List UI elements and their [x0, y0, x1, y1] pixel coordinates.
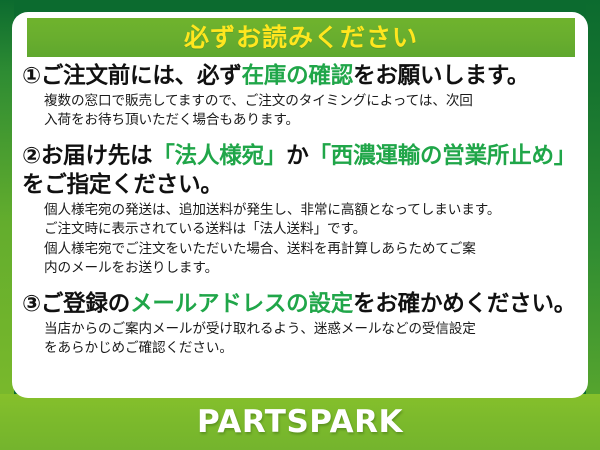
notice-list: ①ご注文前には、必ず在庫の確認をお願いします。 複数の窓口で販売してますので、ご…: [12, 64, 588, 361]
notice-item-1-heading: ①ご注文前には、必ず在庫の確認をお願いします。: [22, 62, 580, 91]
content-card: 必ずお読みください ①ご注文前には、必ず在庫の確認をお願いします。 複数の窓口で…: [12, 12, 588, 398]
notice-item-3-head-part-2: をお確かめください。: [353, 291, 576, 317]
banner-title: 必ずお読みください: [184, 25, 418, 50]
notice-item-3-subline-1: をあらかじめご確認ください。: [44, 339, 580, 358]
notice-item-2-head-highlight-depot: 「西濃運輸の営業所止め」: [309, 143, 577, 169]
notice-item-1-subline-1: 入荷をお待ち頂いただく場合もあります。: [44, 111, 580, 130]
notice-item-2-marker: ②: [22, 143, 41, 169]
notice-item-3-heading: ③ご登録のメールアドレスの設定をお確かめください。: [22, 290, 580, 319]
title-banner: 必ずお読みください: [27, 18, 575, 57]
notice-item-2-subline-2: 個人様宅宛でご注文をいただいた場合、送料を再計算しあらためてご案: [44, 240, 580, 259]
notice-item-2-head-highlight-corporate: 「法人様宛」: [152, 143, 286, 169]
frame-right-border: [586, 0, 600, 404]
notice-item-1-head-part-0: ご注文前には、必ず: [41, 63, 242, 89]
notice-item-3-marker: ③: [22, 291, 41, 317]
footer-brand: PARTSPARK: [0, 394, 600, 450]
notice-item-1-subtext: 複数の窓口で販売してますので、ご注文のタイミングによっては、次回 入荷をお待ち頂…: [44, 92, 580, 131]
notice-item-2-subline-3: 内のメールをお送りします。: [44, 259, 580, 278]
notice-item-3-head-part-0: ご登録の: [41, 291, 130, 317]
notice-item-1-subline-0: 複数の窓口で販売してますので、ご注文のタイミングによっては、次回: [44, 92, 580, 111]
brand-wordmark: PARTSPARK: [197, 407, 403, 438]
notice-item-2-heading: ②お届け先は「法人様宛」か「西濃運輸の営業所止め」をご指定ください。: [22, 142, 580, 200]
notice-item-1: ①ご注文前には、必ず在庫の確認をお願いします。 複数の窓口で販売してますので、ご…: [22, 62, 580, 130]
notice-item-3: ③ご登録のメールアドレスの設定をお確かめください。 当店からのご案内メールが受け…: [22, 290, 580, 358]
notice-item-1-marker: ①: [22, 63, 41, 89]
notice-item-3-subtext: 当店からのご案内メールが受け取れるよう、迷惑メールなどの受信設定 をあらかじめご…: [44, 320, 580, 359]
notice-item-2-subtext: 個人様宅宛の発送は、追加送料が発生し、非常に高額となってしまいます。 ご注文時に…: [44, 201, 580, 278]
notice-item-2-subline-0: 個人様宅宛の発送は、追加送料が発生し、非常に高額となってしまいます。: [44, 201, 580, 220]
notice-item-2-head-part-4: をご指定ください。: [22, 172, 223, 198]
notice-item-1-head-highlight: 在庫の確認: [242, 63, 354, 89]
notice-item-2-head-part-0: お届け先は: [41, 143, 153, 169]
notice-item-3-head-highlight: メールアドレスの設定: [130, 291, 353, 317]
notice-item-2-head-part-2: か: [286, 143, 308, 169]
notice-item-2: ②お届け先は「法人様宛」か「西濃運輸の営業所止め」をご指定ください。 個人様宅宛…: [22, 142, 580, 278]
notice-item-3-subline-0: 当店からのご案内メールが受け取れるよう、迷惑メールなどの受信設定: [44, 320, 580, 339]
notice-item-1-head-part-2: をお願いします。: [353, 63, 529, 89]
promo-poster: 必ずお読みください ①ご注文前には、必ず在庫の確認をお願いします。 複数の窓口で…: [0, 0, 600, 450]
notice-item-2-subline-1: ご注文時に表示されている送料は「法人送料」です。: [44, 220, 580, 239]
